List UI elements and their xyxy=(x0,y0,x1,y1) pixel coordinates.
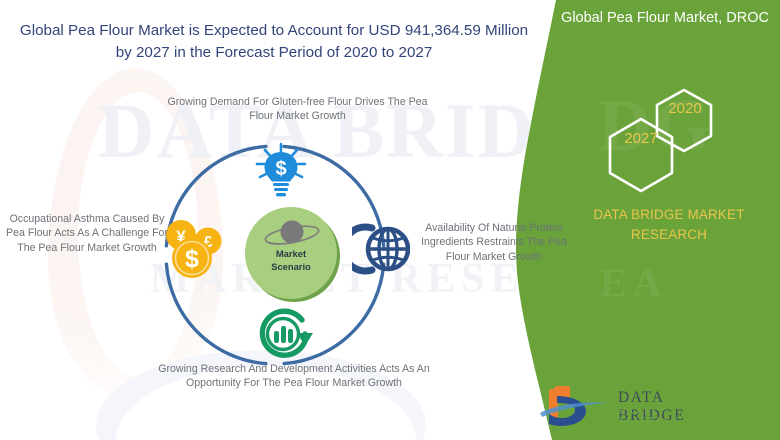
center-label-line1: Market xyxy=(245,247,337,260)
globe-network-icon[interactable] xyxy=(352,220,410,278)
dbmr-mark-icon xyxy=(538,383,612,429)
infographic-canvas: DATA BRIDGE MARKET RESEARCH DG EA 2020 2… xyxy=(0,0,780,440)
data-bridge-market-research-logo[interactable]: DATA BRIDGE MARKET RESEARCH xyxy=(538,383,708,429)
center-label-line2: Scenario xyxy=(245,260,337,273)
page-title: Global Pea Flour Market is Expected to A… xyxy=(10,20,538,64)
center-label: Market Scenario xyxy=(245,247,337,273)
svg-text:EA: EA xyxy=(600,260,668,305)
logo-subtitle: MARKET RESEARCH xyxy=(619,408,708,424)
panel-brand-text: DATA BRIDGE MARKET RESEARCH xyxy=(566,205,772,245)
svg-text:$: $ xyxy=(275,158,286,180)
svg-text:$: $ xyxy=(185,245,199,273)
growth-chart-refresh-icon[interactable] xyxy=(256,305,318,363)
node-text-right: Availability Of Natural Protein Ingredie… xyxy=(408,221,580,264)
panel-title: Global Pea Flour Market, DROC xyxy=(552,8,778,29)
node-text-bottom: Growing Research And Development Activit… xyxy=(150,362,438,391)
node-text-top: Growing Demand For Gluten-free Flour Dri… xyxy=(160,95,435,124)
node-text-left: Occupational Asthma Caused By Pea Flour … xyxy=(2,212,172,255)
lightbulb-dollar-icon[interactable]: $ xyxy=(252,142,310,200)
